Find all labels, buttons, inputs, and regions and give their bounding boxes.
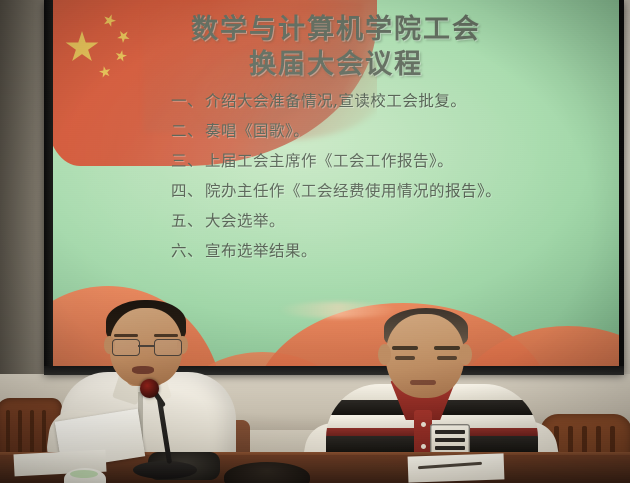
person-left-mouth (132, 366, 154, 374)
shirt-button (421, 444, 426, 449)
glasses-lens (112, 339, 140, 356)
person-right-eyebrow (392, 346, 418, 350)
agenda-item-text: 奏唱《国歌》。 (205, 122, 309, 140)
glasses-bridge (138, 345, 154, 347)
person-right-mouth (410, 380, 436, 385)
slide-title-line1: 数学与计算机学院工会 (191, 14, 481, 45)
agenda-item-text: 院办主任作《工会经费使用情况的报告》。 (205, 182, 501, 200)
agenda-item-text: 大会选举。 (205, 212, 285, 230)
chair-slat (6, 410, 10, 456)
person-right-eye (395, 356, 415, 360)
agenda-item: 四、院办主任作《工会经费使用情况的报告》。 (171, 184, 601, 200)
agenda-item-number: 四、 (171, 184, 205, 200)
chair-slat (18, 410, 22, 456)
cup-lid (70, 470, 98, 478)
agenda-item: 三、上届工会主席作《工会工作报告》。 (171, 154, 601, 170)
agenda-item-text: 介绍大会准备情况,宣读校工会批复。 (205, 92, 466, 110)
agenda-item-number: 一、 (171, 94, 205, 110)
presentation-photo-scene: 数学与计算机学院工会 换届大会议程 一、介绍大会准备情况,宣读校工会批复。 二、… (0, 0, 630, 483)
agenda-item-number: 二、 (171, 124, 205, 140)
glasses-lens (154, 339, 182, 356)
agenda-item-number: 三、 (171, 154, 205, 170)
person-left-eyebrow (154, 334, 178, 337)
agenda-item: 一、介绍大会准备情况,宣读校工会批复。 (171, 94, 601, 110)
agenda-item-number: 六、 (171, 244, 205, 260)
person-left-glasses (112, 339, 180, 354)
person-left-eyebrow (114, 334, 138, 337)
agenda-item: 五、大会选举。 (171, 214, 601, 230)
microphone-base (133, 461, 197, 479)
shirt-button (421, 422, 426, 427)
badge-line (435, 430, 465, 434)
chair-slat (30, 410, 34, 456)
agenda-item: 二、奏唱《国歌》。 (171, 124, 601, 140)
agenda-item-number: 五、 (171, 214, 205, 230)
person-right-eye (437, 356, 457, 360)
badge-line (435, 446, 465, 450)
microphone-head-icon (140, 379, 159, 398)
badge-line (435, 438, 465, 442)
agenda-item-text: 宣布选举结果。 (205, 242, 317, 260)
slide-agenda-list: 一、介绍大会准备情况,宣读校工会批复。 二、奏唱《国歌》。 三、上届工会主席作《… (171, 94, 601, 274)
slide-title-line2: 换届大会议程 (53, 47, 619, 82)
person-right-eyebrow (434, 346, 460, 350)
agenda-item: 六、宣布选举结果。 (171, 244, 601, 260)
person-right-ear (378, 344, 391, 365)
person-right-ear (459, 344, 472, 365)
slide-title: 数学与计算机学院工会 换届大会议程 (53, 12, 619, 82)
agenda-item-text: 上届工会主席作《工会工作报告》。 (205, 152, 453, 170)
